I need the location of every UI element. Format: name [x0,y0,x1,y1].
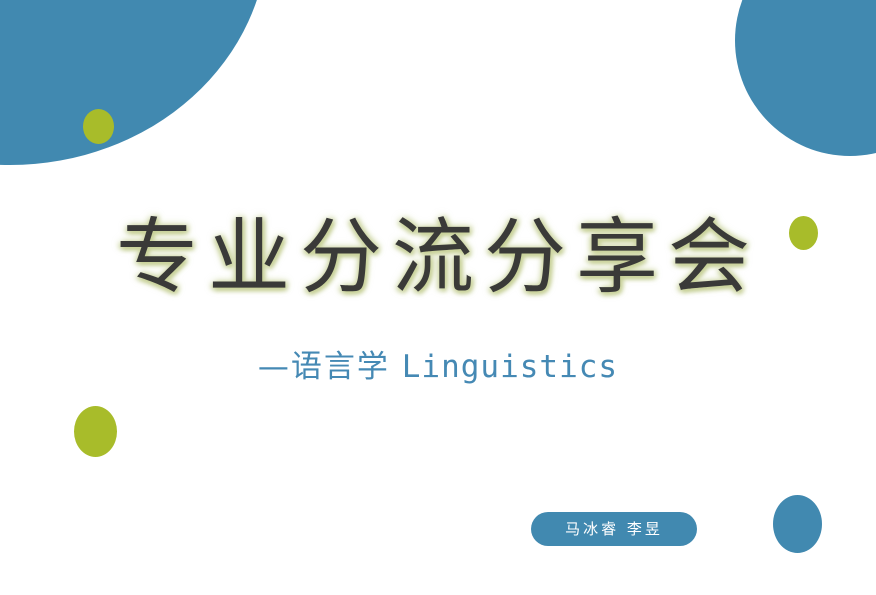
page-title: 专业分流分享会 [116,215,760,301]
content-layer: 专业分流分享会 —语言学 Linguistics 马冰睿 李昱 [0,0,876,595]
subtitle-block: —语言学 Linguistics [0,341,876,386]
presenters-badge: 马冰睿 李昱 [531,512,697,546]
title-slide: 专业分流分享会 —语言学 Linguistics 马冰睿 李昱 [0,0,876,595]
presenters-names: 马冰睿 李昱 [565,522,663,537]
subtitle-dash: — [258,349,291,385]
subtitle: —语言学 Linguistics [258,341,618,386]
subtitle-latin: Linguistics [402,349,618,385]
title-block: 专业分流分享会 [0,215,876,301]
subtitle-chinese: 语言学 [291,349,390,385]
